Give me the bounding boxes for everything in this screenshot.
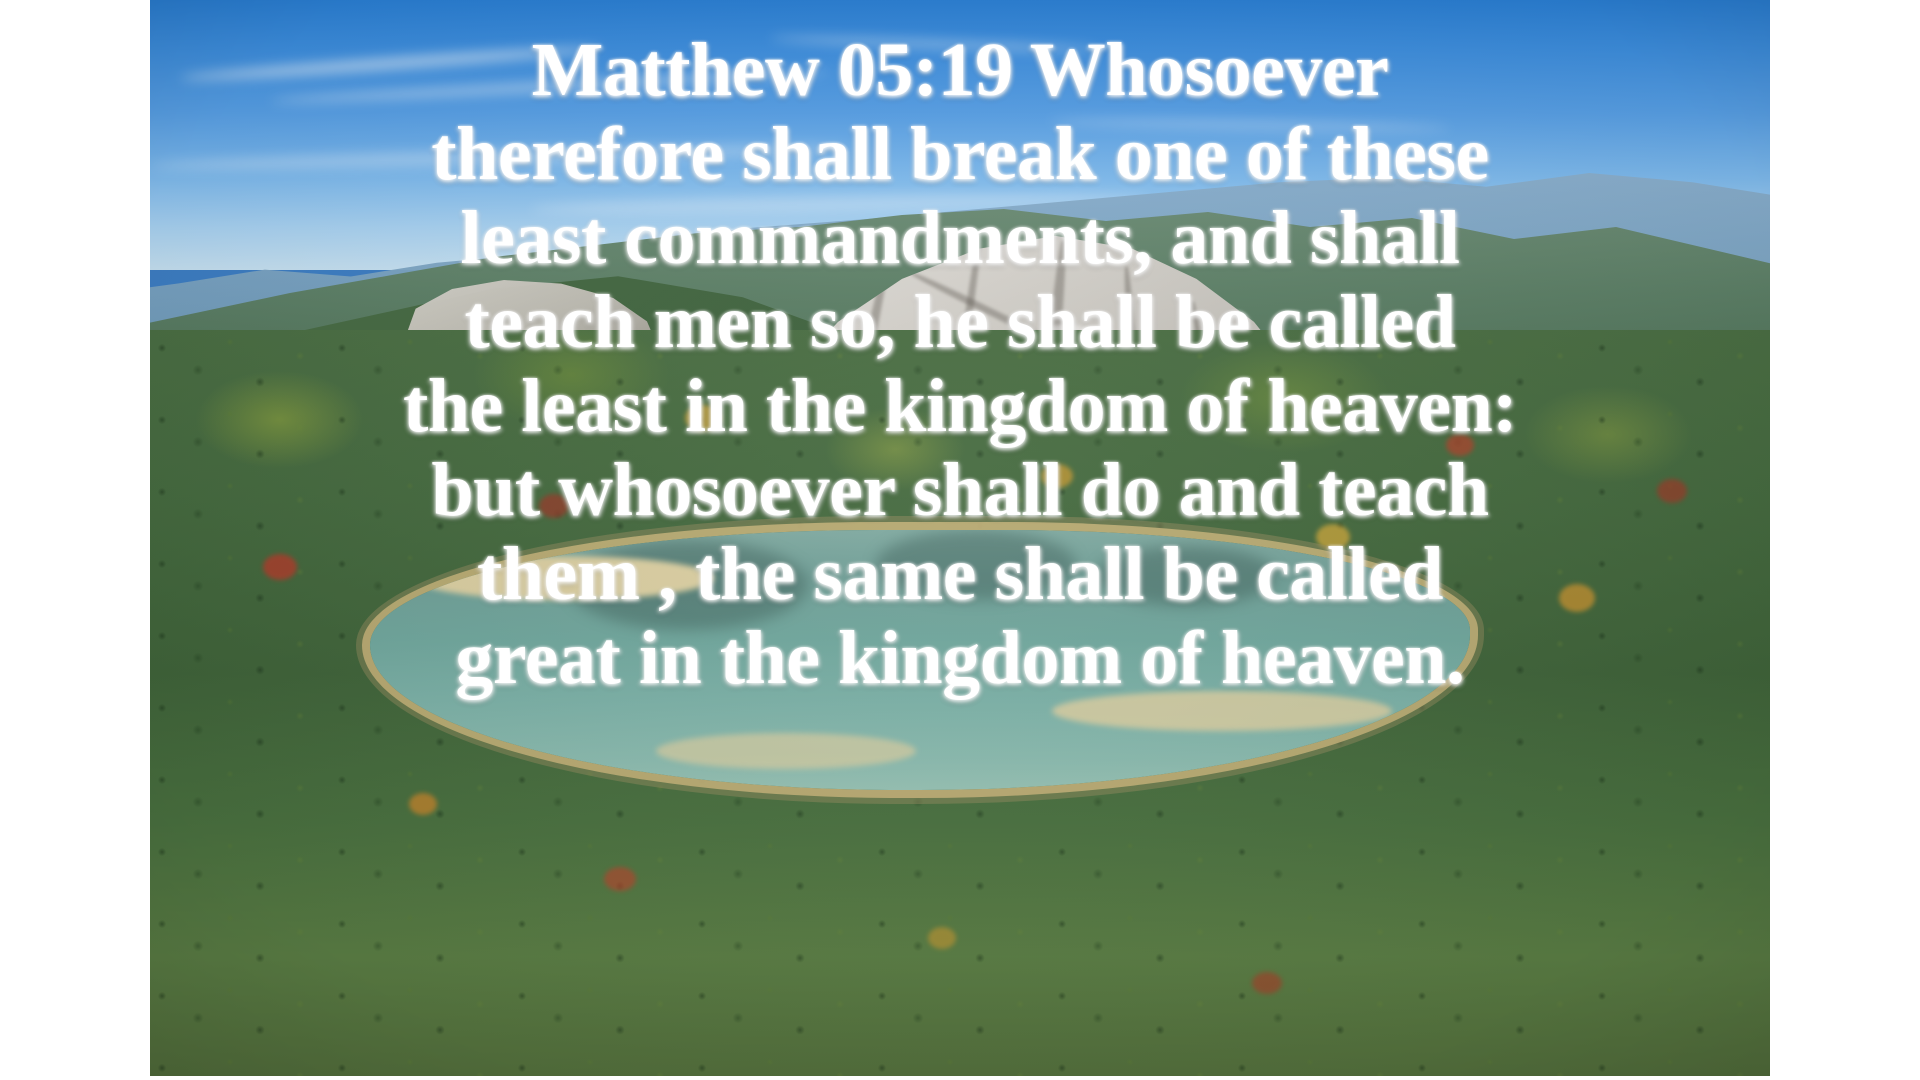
autumn-foliage bbox=[1252, 972, 1282, 994]
autumn-foliage bbox=[928, 927, 956, 949]
verse-slide: Matthew 05:19 Whosoever therefore shall … bbox=[0, 0, 1920, 1080]
scripture-verse-text: Matthew 05:19 Whosoever therefore shall … bbox=[150, 28, 1770, 700]
autumn-foliage bbox=[409, 793, 437, 815]
sand-beach bbox=[656, 733, 916, 769]
autumn-foliage bbox=[604, 867, 636, 891]
